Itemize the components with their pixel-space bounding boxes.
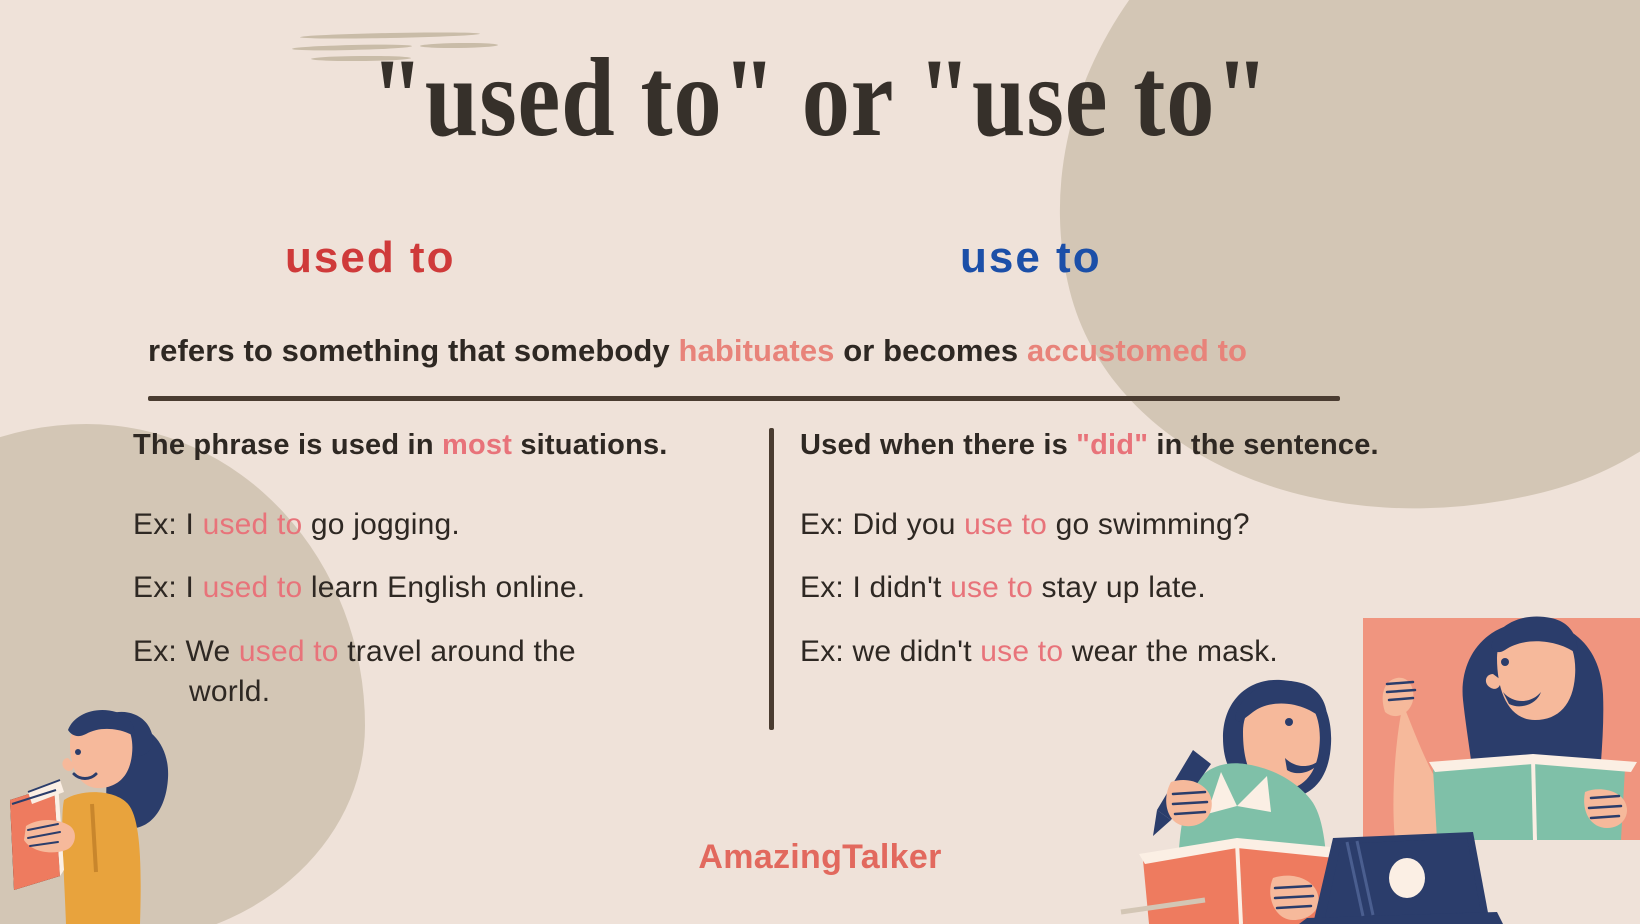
left-example-1-before: Ex: I	[133, 508, 203, 541]
intro-highlight-habituates: habituates	[678, 333, 834, 368]
left-example-3-highlight: used to	[239, 635, 339, 668]
right-rule-after: in the sentence.	[1148, 429, 1379, 461]
right-example-1-after: go swimming?	[1047, 508, 1250, 541]
left-example-3-before: Ex: We	[133, 635, 239, 668]
left-example-3-after: travel around the	[339, 635, 576, 668]
girl-shirt	[62, 792, 140, 924]
boy-studying	[1121, 680, 1341, 924]
left-example-1-after: go jogging.	[302, 508, 460, 541]
illustration-students	[1085, 600, 1640, 924]
left-example-2-after: learn English online.	[302, 571, 585, 604]
left-rule-before: The phrase is used in	[133, 429, 442, 461]
right-rule-highlight: "did"	[1076, 429, 1148, 461]
laptop-logo	[1389, 858, 1425, 898]
column-left: The phrase is used in most situations. E…	[133, 428, 748, 735]
intro-part-2: or becomes	[835, 333, 1027, 368]
woman-eye	[1501, 658, 1509, 666]
left-rule-after: situations.	[512, 429, 667, 461]
illustration-girl-reading	[8, 700, 208, 924]
boy-eye	[1285, 718, 1293, 726]
right-example-3-highlight: use to	[980, 635, 1063, 668]
girl-eye	[75, 749, 81, 755]
left-example-3: Ex: We used to travel around theworld.	[133, 632, 748, 711]
left-example-1: Ex: I used to go jogging.	[133, 505, 748, 545]
left-example-2-before: Ex: I	[133, 571, 203, 604]
right-example-1-before: Ex: Did you	[800, 508, 964, 541]
right-example-1-highlight: use to	[964, 508, 1047, 541]
left-example-2: Ex: I used to learn English online.	[133, 568, 748, 608]
left-rule: The phrase is used in most situations.	[133, 428, 748, 463]
right-example-1: Ex: Did you use to go swimming?	[800, 505, 1500, 545]
infographic-canvas: "used to" or "use to" used to use to ref…	[0, 0, 1640, 924]
right-rule-before: Used when there is	[800, 429, 1076, 461]
intro-highlight-accustomed: accustomed to	[1027, 333, 1247, 368]
laptop	[1299, 832, 1503, 924]
horizontal-divider	[148, 396, 1340, 401]
left-example-1-highlight: used to	[203, 508, 303, 541]
intro-part-1: refers to something that somebody	[148, 333, 678, 368]
left-rule-highlight: most	[442, 429, 512, 461]
vertical-divider	[769, 428, 774, 730]
column-header-use-to: use to	[960, 236, 1102, 280]
intro-sentence: refers to something that somebody habitu…	[148, 332, 1343, 371]
page-title: "used to" or "use to"	[115, 42, 1525, 154]
right-rule: Used when there is "did" in the sentence…	[800, 428, 1500, 463]
right-example-3-before: Ex: we didn't	[800, 635, 980, 668]
right-example-2-highlight: use to	[950, 571, 1033, 604]
right-example-2-before: Ex: I didn't	[800, 571, 950, 604]
left-example-2-highlight: used to	[203, 571, 303, 604]
column-header-used-to: used to	[285, 236, 455, 280]
